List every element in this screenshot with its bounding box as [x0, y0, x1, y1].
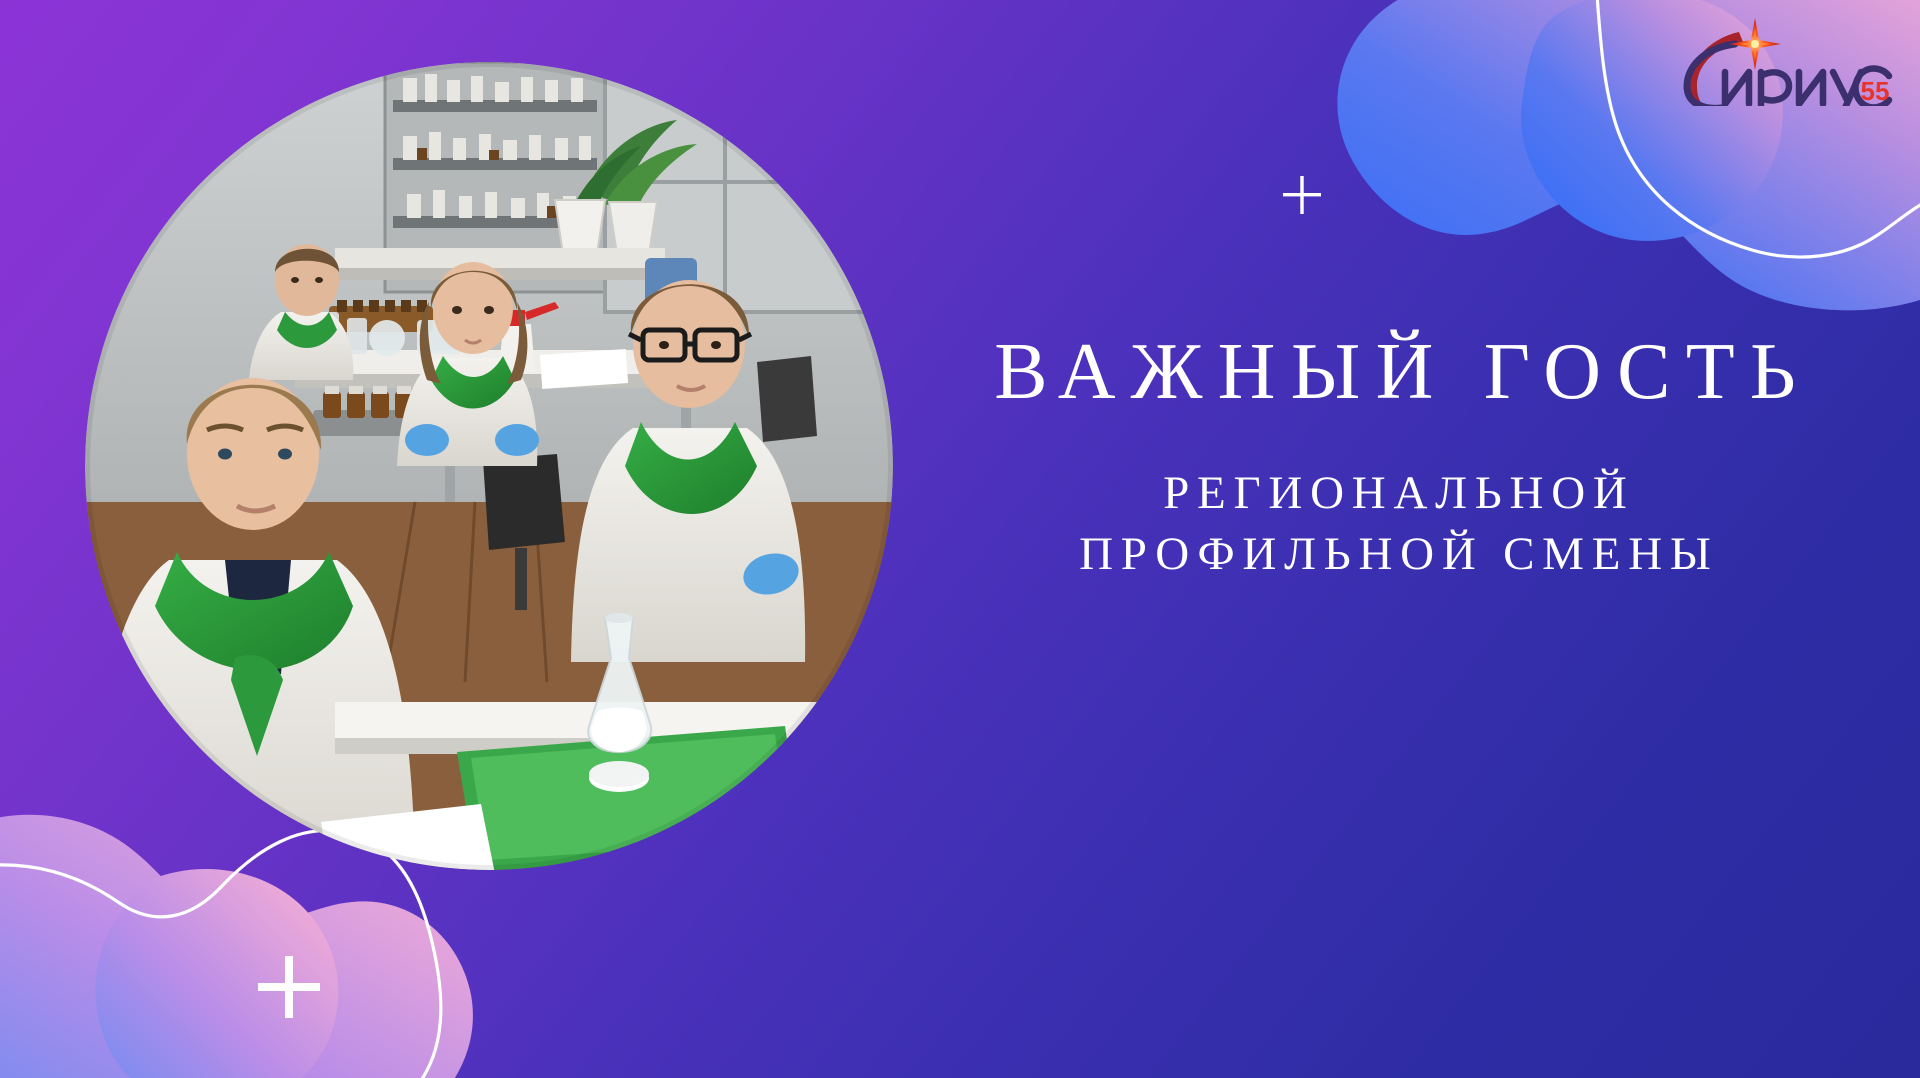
plus-icon-top-right	[1283, 176, 1321, 214]
logo-badge-number: 55	[1861, 76, 1890, 106]
headline-block: ВАЖНЫЙ ГОСТЬ РЕГИОНАЛЬНОЙ ПРОФИЛЬНОЙ СМЕ…	[910, 330, 1880, 585]
subtitle-line-1: РЕГИОНАЛЬНОЙ	[910, 463, 1880, 524]
photo-circle	[85, 62, 893, 870]
logo-wordmark	[1725, 72, 1861, 106]
page-title: ВАЖНЫЙ ГОСТЬ	[910, 330, 1880, 415]
star-burst-icon	[1729, 18, 1781, 70]
sirius-logo[interactable]: 55	[1663, 14, 1903, 106]
wavy-line-bottom-left	[0, 830, 441, 1078]
logo-badge: 55	[1856, 69, 1890, 106]
slide-canvas: 55 ВАЖНЫЙ ГОСТЬ РЕГИОНАЛЬНОЙ ПРОФИЛЬНОЙ …	[0, 0, 1920, 1078]
plus-icon-bottom-left	[258, 956, 320, 1018]
page-subtitle: РЕГИОНАЛЬНОЙ ПРОФИЛЬНОЙ СМЕНЫ	[910, 463, 1880, 585]
lab-photo-illustration	[85, 62, 893, 870]
subtitle-line-2: ПРОФИЛЬНОЙ СМЕНЫ	[910, 524, 1880, 585]
